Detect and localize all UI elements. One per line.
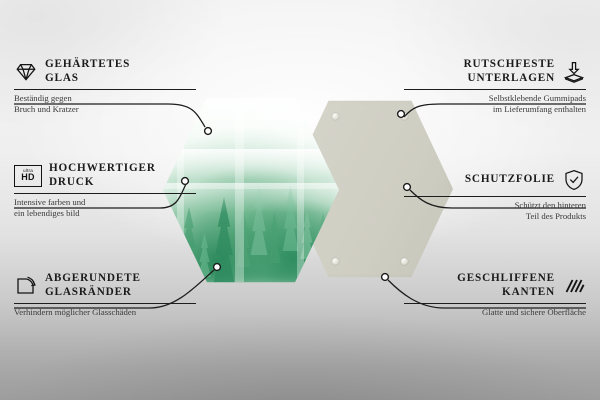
- press-pad-icon: [562, 60, 586, 84]
- diamond-icon: [14, 60, 38, 84]
- feature-description: Beständig gegen Bruch und Kratzer: [14, 93, 196, 115]
- feature-rule: [404, 303, 586, 304]
- feature-description: Selbstklebende Gummipads im Lieferumfang…: [404, 93, 586, 115]
- feature-title: SCHUTZFOLIE: [465, 173, 555, 187]
- rubber-pad: [401, 258, 408, 265]
- feature-title: GEHÄRTETES GLAS: [45, 58, 130, 85]
- feature-description: Glatte und sichere Oberfläche: [404, 307, 586, 318]
- ultra-hd-badge-icon: ultra HD: [14, 165, 42, 187]
- feature-hochwertiger-druck: ultra HD HOCHWERTIGER DRUCK Intensive fa…: [14, 162, 196, 219]
- feature-title: RUTSCHFESTE UNTERLAGEN: [464, 58, 555, 85]
- feature-rule: [14, 193, 196, 194]
- feature-rule: [404, 196, 586, 197]
- feature-rule: [404, 89, 586, 90]
- shield-check-icon: [562, 168, 586, 192]
- feature-gehaertetes-glas: GEHÄRTETES GLAS Beständig gegen Bruch un…: [14, 58, 196, 115]
- feature-abgerundete-glasraender: ABGERUNDETE GLASRÄNDER Verhindern möglic…: [14, 272, 196, 318]
- infographic-canvas: GEHÄRTETES GLAS Beständig gegen Bruch un…: [0, 0, 600, 400]
- feature-rule: [14, 89, 196, 90]
- feature-rule: [14, 303, 196, 304]
- rounded-corner-icon: [14, 274, 38, 298]
- feature-title: HOCHWERTIGER DRUCK: [49, 162, 156, 189]
- feature-description: Intensive farben und ein lebendiges bild: [14, 197, 196, 219]
- feature-description: Verhindern möglicher Glasschäden: [14, 307, 196, 318]
- feature-schutzfolie: SCHUTZFOLIE Schützt den hinteren Teil de…: [404, 168, 586, 222]
- feature-title: ABGERUNDETE GLASRÄNDER: [45, 272, 141, 299]
- feature-geschliffene-kanten: GESCHLIFFENE KANTEN Glatte und sichere O…: [404, 272, 586, 318]
- feature-title: GESCHLIFFENE KANTEN: [457, 272, 555, 299]
- feature-description: Schützt den hinteren Teil des Produkts: [404, 200, 586, 222]
- polished-edges-icon: [562, 274, 586, 298]
- feature-rutschfeste-unterlagen: RUTSCHFESTE UNTERLAGEN Selbstklebende Gu…: [404, 58, 586, 115]
